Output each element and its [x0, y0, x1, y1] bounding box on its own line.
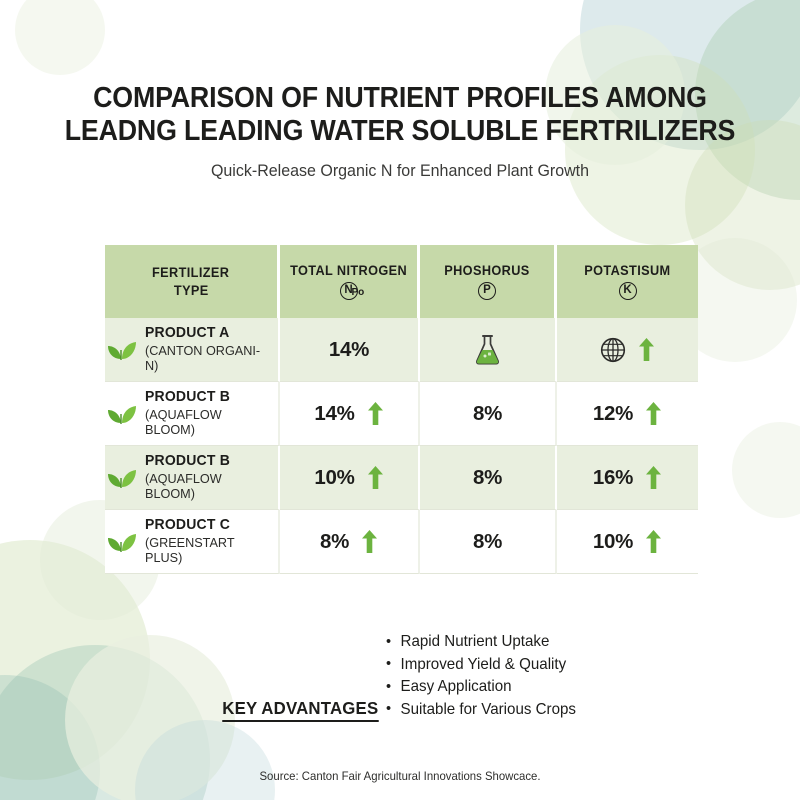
cell-fertilizer-type: PRODUCT B (AQUAFLOW BLOOM): [105, 446, 280, 510]
phosphorus-value: 8%: [473, 530, 502, 554]
potassium-value-group: 16%: [593, 465, 662, 490]
cell-potassium: [557, 318, 698, 382]
nitrogen-value: 10%: [314, 466, 354, 490]
column-header-label: POTASTISUM: [584, 262, 670, 279]
column-header-label: TOTAL NITROGEN: [290, 262, 407, 279]
nitrogen-value-group: 14%: [314, 401, 383, 426]
column-header-total-nitrogen: TOTAL NITROGEN N Po: [280, 245, 420, 318]
table-header-row: FERTILIZER TYPE TOTAL NITROGEN N Po PHOS…: [105, 245, 698, 318]
cell-nitrogen: 14%: [280, 318, 420, 382]
trend-up-arrow-icon: [367, 401, 384, 426]
cell-phosphorus: 8%: [420, 446, 557, 510]
trend-up-arrow-icon: [638, 337, 655, 362]
phosphorus-symbol-group: P: [478, 281, 496, 302]
trend-up-arrow-icon: [645, 465, 662, 490]
cell-nitrogen: 10%: [280, 446, 420, 510]
potassium-value-group: 12%: [593, 401, 662, 426]
list-item: Suitable for Various Crops: [386, 699, 576, 722]
cell-potassium: 16%: [557, 446, 698, 510]
cell-phosphorus: [420, 318, 557, 382]
column-header-label: PHOSHORUS: [444, 262, 529, 279]
list-item: Improved Yield & Quality: [386, 654, 576, 677]
trend-up-arrow-icon: [645, 401, 662, 426]
column-header-phosphorus: PHOSHORUS P: [420, 245, 557, 318]
key-advantages-section: KEY ADVANTAGES Rapid Nutrient Uptake Imp…: [0, 622, 800, 722]
nitrogen-symbol-artifact: Po: [352, 288, 365, 298]
source-caption: Source: Canton Fair Agricultural Innovat…: [8, 770, 792, 783]
nitrogen-value-group: 10%: [314, 465, 383, 490]
phosphorus-symbol-icon: P: [478, 282, 496, 300]
cell-nitrogen: 8%: [280, 510, 420, 574]
product-brand: (AQUAFLOW BLOOM): [145, 407, 273, 437]
table-row: PRODUCT A (CANTON ORGANI-N) 14%: [105, 318, 698, 382]
potassium-value: 16%: [593, 466, 633, 490]
trend-up-arrow-icon: [645, 529, 662, 554]
potassium-value: 10%: [593, 530, 633, 554]
phosphorus-value: 8%: [473, 466, 502, 490]
page-title: COMPARISON OF NUTRIENT PROFILES AMONG LE…: [24, 82, 776, 148]
page-subtitle: Quick-Release Organic N for Enhanced Pla…: [12, 162, 788, 181]
nutrient-comparison-table: FERTILIZER TYPE TOTAL NITROGEN N Po PHOS…: [105, 245, 698, 574]
cell-phosphorus: 8%: [420, 382, 557, 446]
cell-fertilizer-type: PRODUCT B (AQUAFLOW BLOOM): [105, 382, 280, 446]
nitrogen-value-group: 14%: [329, 338, 369, 362]
product-name: PRODUCT B: [145, 389, 273, 406]
column-header-label-2: TYPE: [174, 282, 209, 299]
potassium-value: 12%: [593, 402, 633, 426]
column-header-label: FERTILIZER: [152, 264, 229, 281]
phosphorus-value: 8%: [473, 402, 502, 426]
potassium-symbol-icon: K: [619, 282, 637, 300]
nitrogen-value: 14%: [314, 402, 354, 426]
key-advantages-title: KEY ADVANTAGES: [222, 698, 378, 722]
column-header-fertilizer-type: FERTILIZER TYPE: [105, 245, 280, 318]
product-brand: (GREENSTART PLUS): [145, 535, 273, 565]
potassium-value-group: [600, 337, 655, 363]
product-name: PRODUCT C: [145, 517, 273, 534]
product-brand: (CANTON ORGANI-N): [145, 343, 273, 373]
nitrogen-value: 8%: [320, 530, 349, 554]
leaf-icon: [107, 530, 137, 554]
table-row: PRODUCT B (AQUAFLOW BLOOM) 10% 8% 16%: [105, 446, 698, 510]
product-name: PRODUCT A: [145, 325, 273, 342]
potassium-value-group: 10%: [593, 529, 662, 554]
trend-up-arrow-icon: [361, 529, 378, 554]
column-header-potassium: POTASTISUM K: [557, 245, 698, 318]
leaf-icon: [107, 466, 137, 490]
flask-icon: [474, 334, 501, 365]
trend-up-arrow-icon: [367, 465, 384, 490]
leaf-icon: [107, 402, 137, 426]
product-name: PRODUCT B: [145, 453, 273, 470]
cell-potassium: 10%: [557, 510, 698, 574]
cell-fertilizer-type: PRODUCT A (CANTON ORGANI-N): [105, 318, 280, 382]
nitrogen-value: 14%: [329, 338, 369, 362]
nitrogen-symbol-group: N Po: [340, 281, 358, 302]
potassium-symbol-group: K: [619, 281, 637, 302]
leaf-icon: [107, 338, 137, 362]
cell-fertilizer-type: PRODUCT C (GREENSTART PLUS): [105, 510, 280, 574]
table-row: PRODUCT C (GREENSTART PLUS) 8% 8% 10%: [105, 510, 698, 574]
cell-phosphorus: 8%: [420, 510, 557, 574]
page-title-line-1: COMPARISON OF NUTRIENT PROFILES AMONG: [24, 82, 776, 115]
key-advantages-list: Rapid Nutrient Uptake Improved Yield & Q…: [386, 631, 582, 721]
globe-icon: [600, 337, 626, 363]
list-item: Rapid Nutrient Uptake: [386, 631, 576, 654]
list-item: Easy Application: [386, 676, 576, 699]
cell-nitrogen: 14%: [280, 382, 420, 446]
product-brand: (AQUAFLOW BLOOM): [145, 471, 273, 501]
page-title-line-2: LEADNG LEADING WATER SOLUBLE FERTRILIZER…: [24, 115, 776, 148]
header-block: COMPARISON OF NUTRIENT PROFILES AMONG LE…: [0, 82, 800, 181]
table-row: PRODUCT B (AQUAFLOW BLOOM) 14% 8% 12%: [105, 382, 698, 446]
cell-potassium: 12%: [557, 382, 698, 446]
nitrogen-value-group: 8%: [320, 529, 378, 554]
